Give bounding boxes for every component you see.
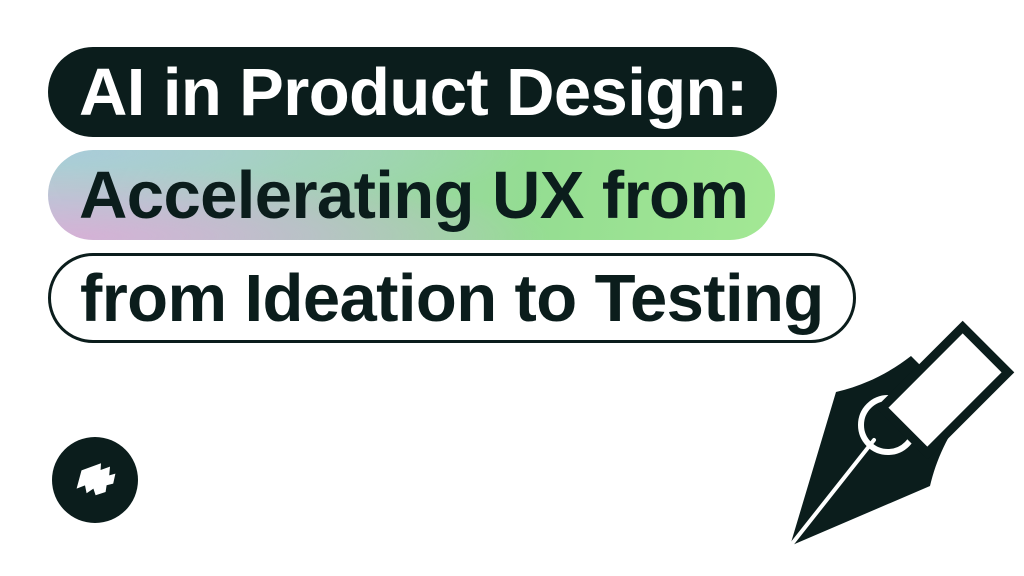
title-pill-stack: AI in Product Design: Accelerating UX fr… [48, 47, 856, 343]
title-line-2-text: Accelerating UX from [79, 162, 748, 229]
zigzag-flash-mark-icon [71, 458, 119, 502]
title-line-3-pill: from Ideation to Testing [48, 253, 856, 343]
title-line-3-text: from Ideation to Testing [80, 265, 824, 332]
pen-nib-illustration [770, 312, 1024, 576]
title-line-1-pill: AI in Product Design: [48, 47, 777, 137]
title-card-canvas: AI in Product Design: Accelerating UX fr… [0, 0, 1024, 576]
title-line-1-text: AI in Product Design: [79, 59, 748, 126]
brand-badge[interactable] [52, 437, 138, 523]
pen-nib-icon [770, 312, 1024, 576]
title-line-2-pill: Accelerating UX from [48, 150, 775, 240]
